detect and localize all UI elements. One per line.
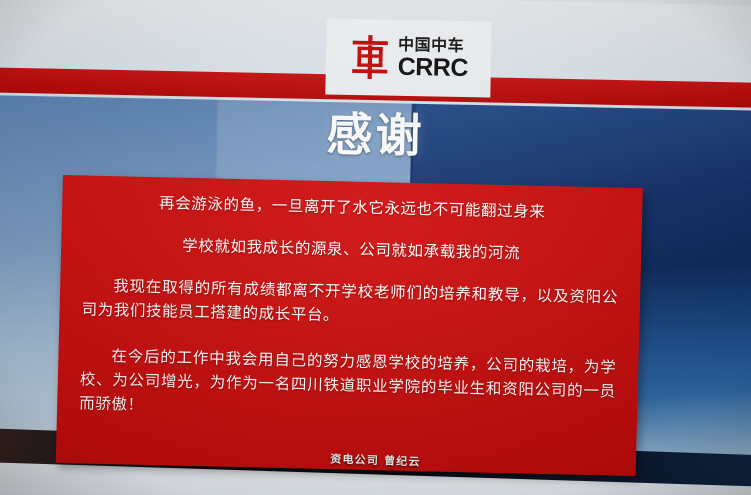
brand-name-cn: 中国中车 — [398, 36, 469, 53]
crrc-logo-plate: 中国中车 CRRC — [325, 18, 491, 97]
presentation-screen: 中国中车 CRRC 感谢 再会游泳的鱼，一旦离开了水它永远也不可能翻过身来 学校… — [0, 0, 751, 495]
red-content-panel: 再会游泳的鱼，一旦离开了水它永远也不可能翻过身来 学校就如我成长的源泉、公司就如… — [56, 175, 643, 476]
brand-name-en: CRRC — [397, 54, 468, 80]
crrc-logo-wordmark: 中国中车 CRRC — [397, 36, 468, 80]
crrc-train-logo-icon — [348, 34, 391, 81]
body-paragraph-2: 在今后的工作中我会用自己的努力感恩学校的培养，公司的栽培，为学校、为公司增光，为… — [79, 344, 617, 428]
red-panel-text-container: 再会游泳的鱼，一旦离开了水它永远也不可能翻过身来 学校就如我成长的源泉、公司就如… — [56, 175, 643, 476]
projected-slide: 中国中车 CRRC 感谢 再会游泳的鱼，一旦离开了水它永远也不可能翻过身来 学校… — [0, 0, 751, 495]
